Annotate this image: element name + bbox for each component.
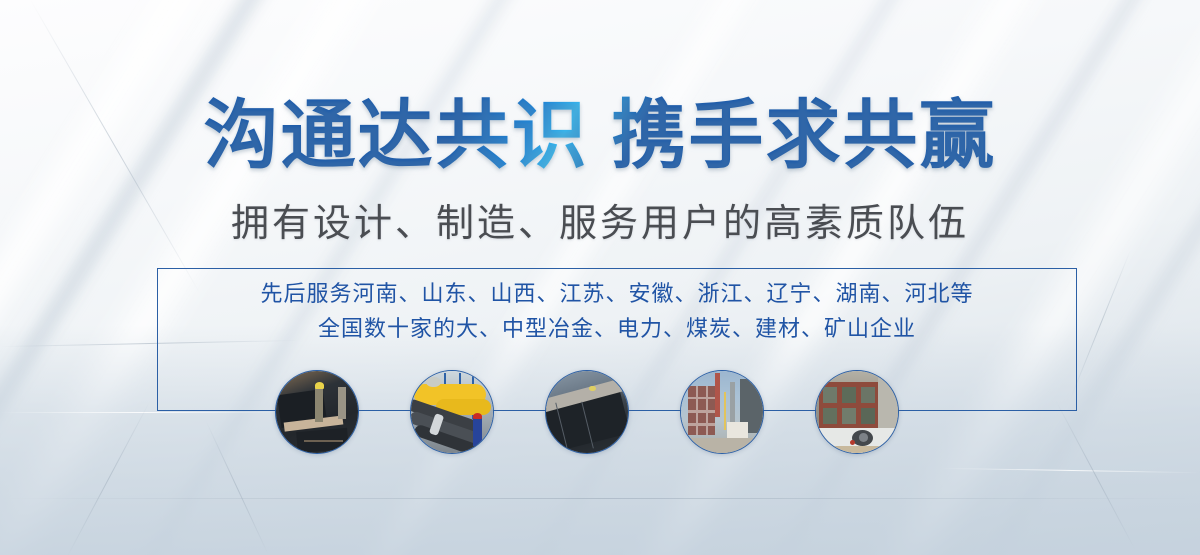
photo-strip [0, 370, 1200, 462]
facet-edge [940, 468, 1200, 474]
banner-subtitle: 拥有设计、制造、服务用户的高素质队伍 [0, 200, 1200, 248]
info-line-1: 先后服务河南、山东、山西、江苏、安徽、浙江、辽宁、湖南、河北等 [157, 276, 1077, 311]
photo-workshop-steel-racks [815, 370, 899, 454]
info-line-2: 全国数十家的大、中型冶金、电力、煤炭、建材、矿山企业 [157, 311, 1077, 346]
company-banner: 沟通达共识 携手求共赢 拥有设计、制造、服务用户的高素质队伍 先后服务河南、山东… [0, 0, 1200, 555]
banner-headline: 沟通达共识 携手求共赢 [0, 96, 1200, 174]
photo-yellow-machinery-pipeline [410, 370, 494, 454]
photo-industrial-plant-construction [680, 370, 764, 454]
info-box-text: 先后服务河南、山东、山西、江苏、安徽、浙江、辽宁、湖南、河北等 全国数十家的大、… [157, 276, 1077, 346]
photo-steel-vessel-overhead [545, 370, 629, 454]
photo-steel-deck-installation [275, 370, 359, 454]
facet-edge [0, 498, 1200, 499]
